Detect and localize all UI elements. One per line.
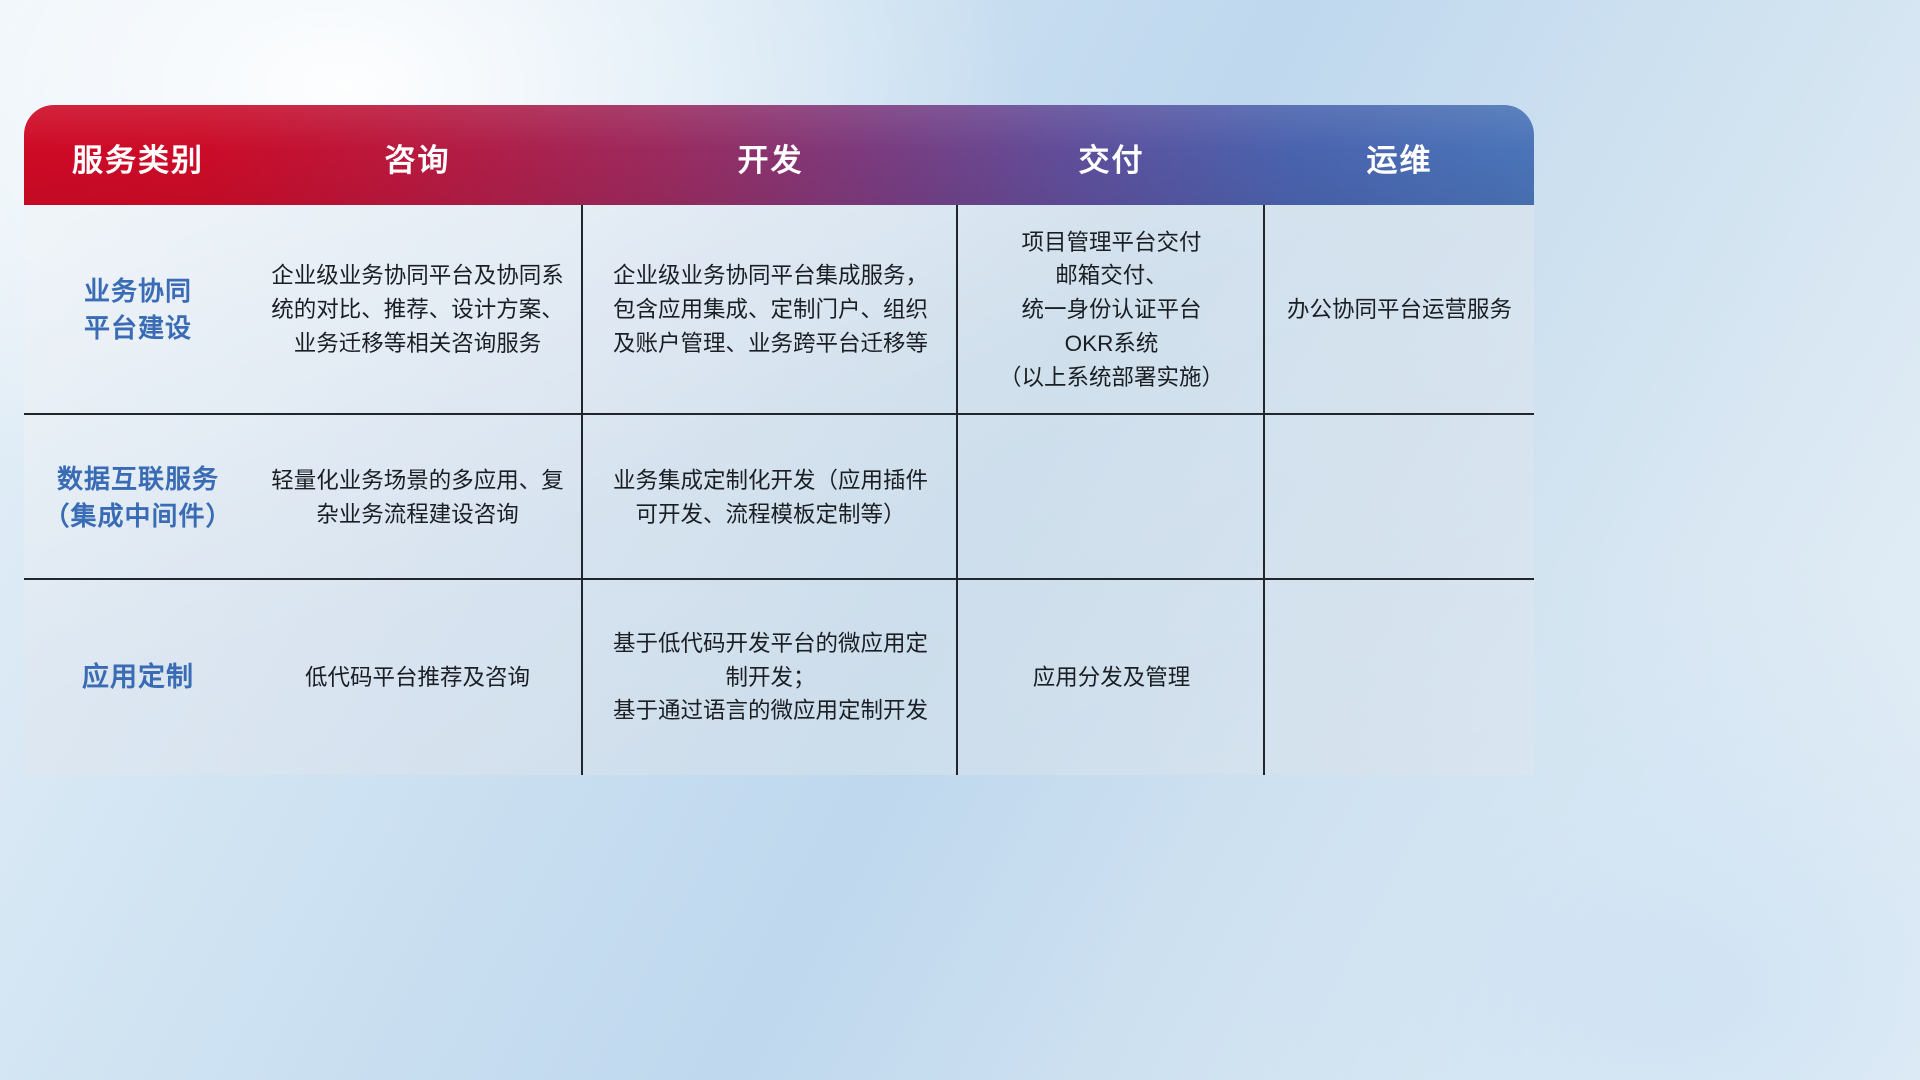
- cell-development: 业务集成定制化开发（应用插件 可开发、流程模板定制等）: [583, 415, 958, 580]
- cell-text: 应用分发及管理: [1033, 661, 1191, 695]
- table-body: 业务协同 平台建设 企业级业务协同平台及协同系 统的对比、推荐、设计方案、 业务…: [24, 205, 1534, 775]
- table-header-row: 服务类别 咨询 开发 交付 运维: [24, 105, 1534, 205]
- column-header-label: 服务类别: [72, 135, 204, 180]
- cell-operations: [1265, 580, 1534, 775]
- cell-consulting: 低代码平台推荐及咨询: [252, 580, 583, 775]
- cell-text: 企业级业务协同平台集成服务， 包含应用集成、定制门户、组织 及账户管理、业务跨平…: [613, 259, 928, 360]
- cell-text: 基于低代码开发平台的微应用定 制开发； 基于通过语言的微应用定制开发: [613, 627, 928, 728]
- cell-consulting: 企业级业务协同平台及协同系 统的对比、推荐、设计方案、 业务迁移等相关咨询服务: [252, 205, 583, 415]
- category-label: 数据互联服务 （集成中间件）: [43, 461, 232, 535]
- column-header-delivery: 交付: [958, 105, 1265, 205]
- cell-operations: 办公协同平台运营服务: [1265, 205, 1534, 415]
- table-row: 数据互联服务 （集成中间件） 轻量化业务场景的多应用、复 杂业务流程建设咨询 业…: [24, 415, 1534, 580]
- category-label: 应用定制: [82, 658, 194, 696]
- cell-text: 轻量化业务场景的多应用、复 杂业务流程建设咨询: [271, 464, 564, 532]
- row-category-cell: 应用定制: [24, 580, 252, 775]
- cell-development: 基于低代码开发平台的微应用定 制开发； 基于通过语言的微应用定制开发: [583, 580, 958, 775]
- service-matrix-table: 服务类别 咨询 开发 交付 运维 业务协同 平台建设: [24, 105, 1534, 775]
- row-category-cell: 数据互联服务 （集成中间件）: [24, 415, 252, 580]
- category-label: 业务协同 平台建设: [84, 273, 192, 347]
- column-header-operations: 运维: [1265, 105, 1534, 205]
- cell-text: 办公协同平台运营服务: [1287, 293, 1512, 327]
- column-header-label: 开发: [738, 135, 804, 180]
- cell-text: 低代码平台推荐及咨询: [305, 661, 530, 695]
- slide-canvas: 服务类别 咨询 开发 交付 运维 业务协同 平台建设: [0, 0, 1920, 1080]
- column-header-consulting: 咨询: [252, 105, 583, 205]
- column-header-label: 咨询: [385, 135, 451, 180]
- cell-consulting: 轻量化业务场景的多应用、复 杂业务流程建设咨询: [252, 415, 583, 580]
- cell-operations: [1265, 415, 1534, 580]
- cell-delivery: 项目管理平台交付 邮箱交付、 统一身份认证平台 OKR系统 （以上系统部署实施）: [958, 205, 1265, 415]
- row-category-cell: 业务协同 平台建设: [24, 205, 252, 415]
- cell-delivery: 应用分发及管理: [958, 580, 1265, 775]
- column-header-service-category: 服务类别: [24, 105, 252, 205]
- cell-delivery: [958, 415, 1265, 580]
- cell-text: 项目管理平台交付 邮箱交付、 统一身份认证平台 OKR系统 （以上系统部署实施）: [999, 226, 1224, 395]
- cell-text: 业务集成定制化开发（应用插件 可开发、流程模板定制等）: [613, 464, 928, 532]
- cell-development: 企业级业务协同平台集成服务， 包含应用集成、定制门户、组织 及账户管理、业务跨平…: [583, 205, 958, 415]
- column-header-development: 开发: [583, 105, 958, 205]
- column-header-label: 运维: [1367, 135, 1433, 180]
- table-row: 应用定制 低代码平台推荐及咨询 基于低代码开发平台的微应用定 制开发； 基于通过…: [24, 580, 1534, 775]
- table-row: 业务协同 平台建设 企业级业务协同平台及协同系 统的对比、推荐、设计方案、 业务…: [24, 205, 1534, 415]
- column-header-label: 交付: [1079, 135, 1145, 180]
- cell-text: 企业级业务协同平台及协同系 统的对比、推荐、设计方案、 业务迁移等相关咨询服务: [271, 259, 564, 360]
